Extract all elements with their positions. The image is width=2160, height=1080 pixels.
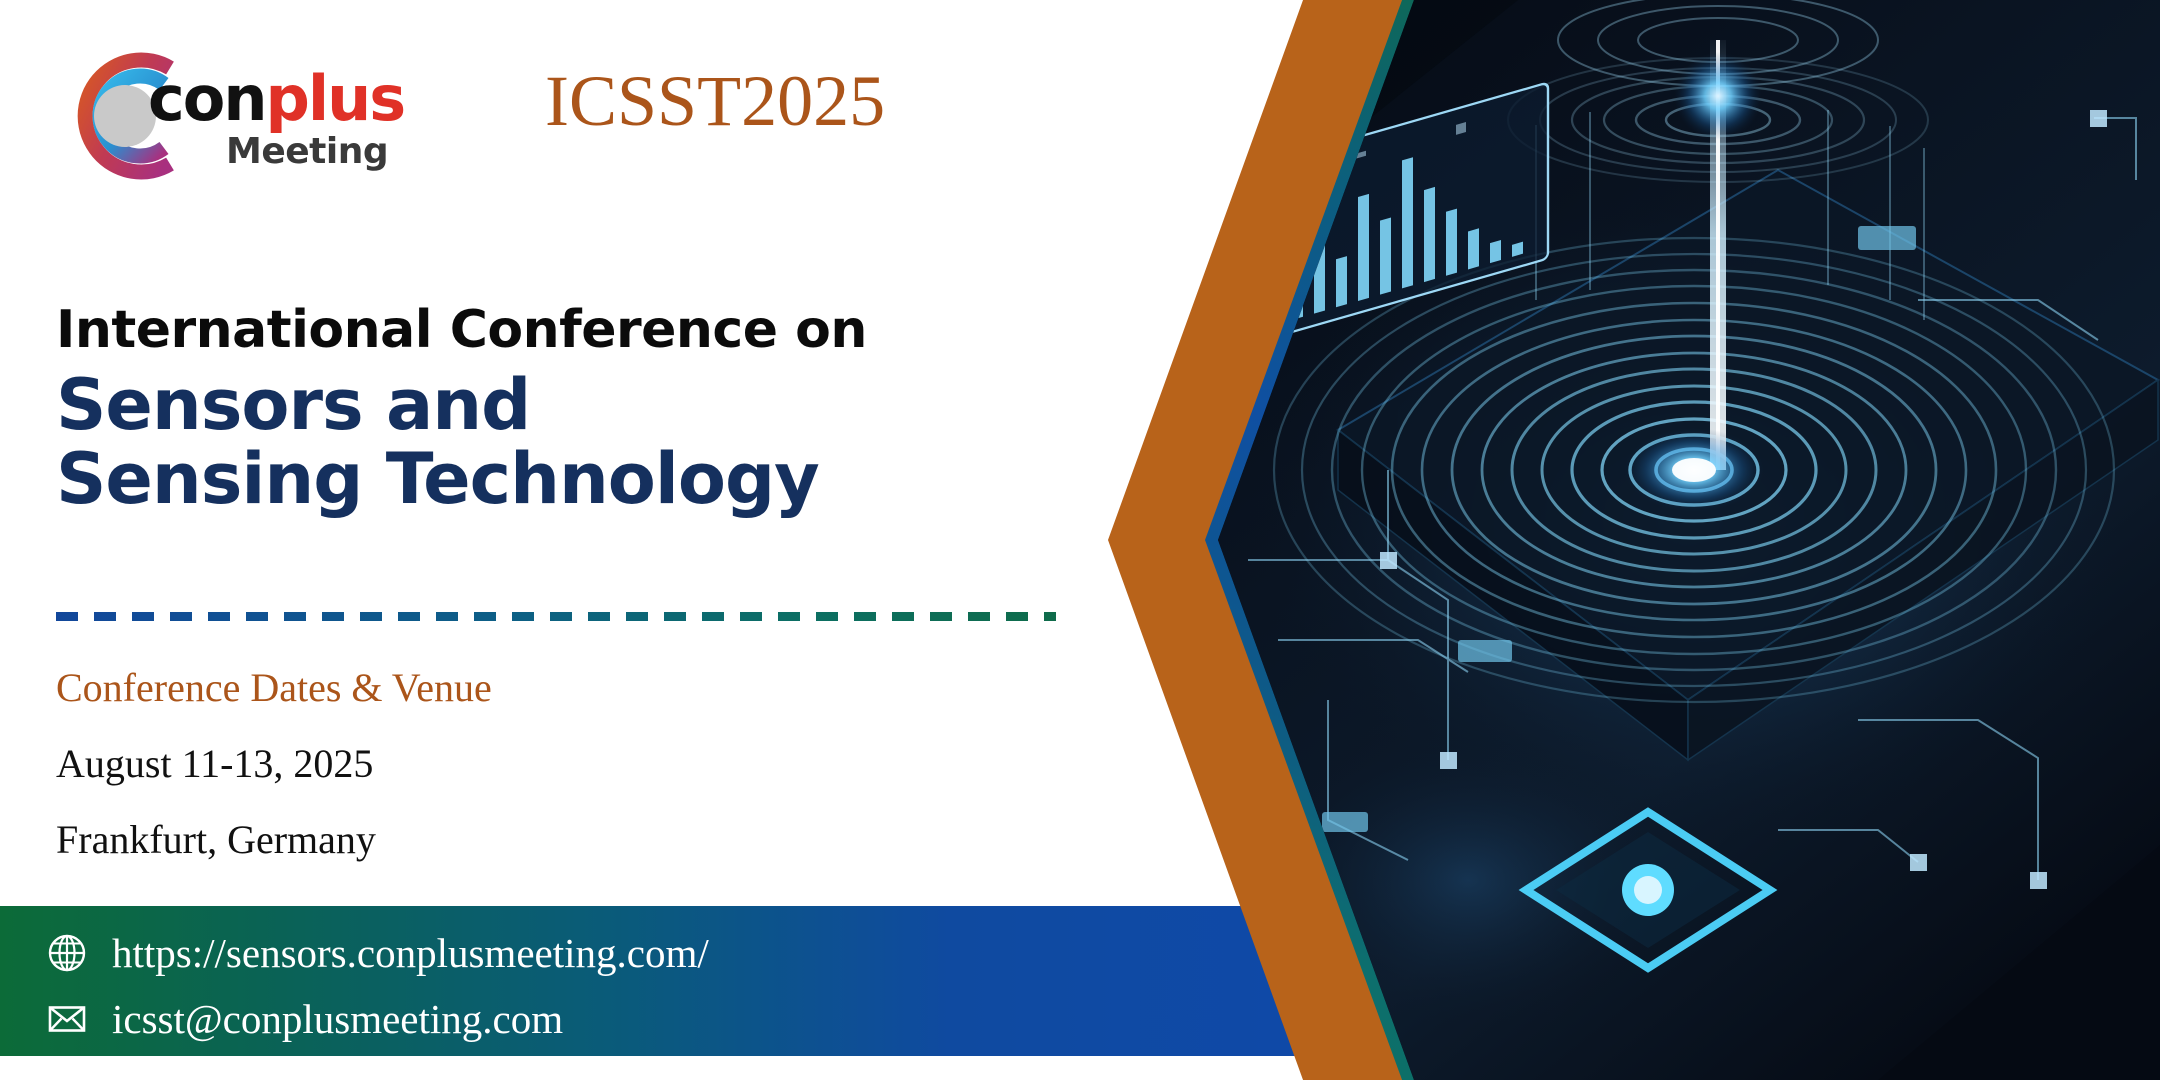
conplus-meeting-logo: conplus Meeting: [52, 42, 382, 190]
venue-block: Conference Dates & Venue August 11-13, 2…: [56, 668, 492, 860]
logo-text-plus: plus: [266, 62, 405, 135]
logo-wordmark: conplus Meeting: [148, 68, 404, 170]
event-code: ICSST2025: [545, 62, 885, 141]
venue-location: Frankfurt, Germany: [56, 820, 492, 860]
globe-icon: [46, 932, 88, 974]
email-row[interactable]: icsst@conplusmeeting.com: [46, 998, 563, 1040]
logo-text-meeting: Meeting: [226, 134, 404, 170]
venue-label: Conference Dates & Venue: [56, 668, 492, 708]
website-row[interactable]: https://sensors.conplusmeeting.com/: [46, 932, 709, 974]
conference-title-line-1: Sensors and: [56, 368, 819, 442]
conference-banner: conplus Meeting ICSST2025 International …: [0, 0, 2160, 1080]
logo-text-con: con: [148, 62, 266, 135]
conference-title: Sensors and Sensing Technology: [56, 368, 819, 516]
website-url[interactable]: https://sensors.conplusmeeting.com/: [112, 933, 709, 974]
conference-title-line-2: Sensing Technology: [56, 442, 819, 516]
envelope-icon: [46, 998, 88, 1040]
hero-image-region: [980, 0, 2160, 1080]
conference-pretitle: International Conference on: [56, 300, 867, 360]
email-address[interactable]: icsst@conplusmeeting.com: [112, 999, 563, 1040]
venue-dates: August 11-13, 2025: [56, 744, 492, 784]
dashed-divider: [56, 612, 1056, 621]
sensor-waves-visualization: [1218, 0, 2160, 1080]
